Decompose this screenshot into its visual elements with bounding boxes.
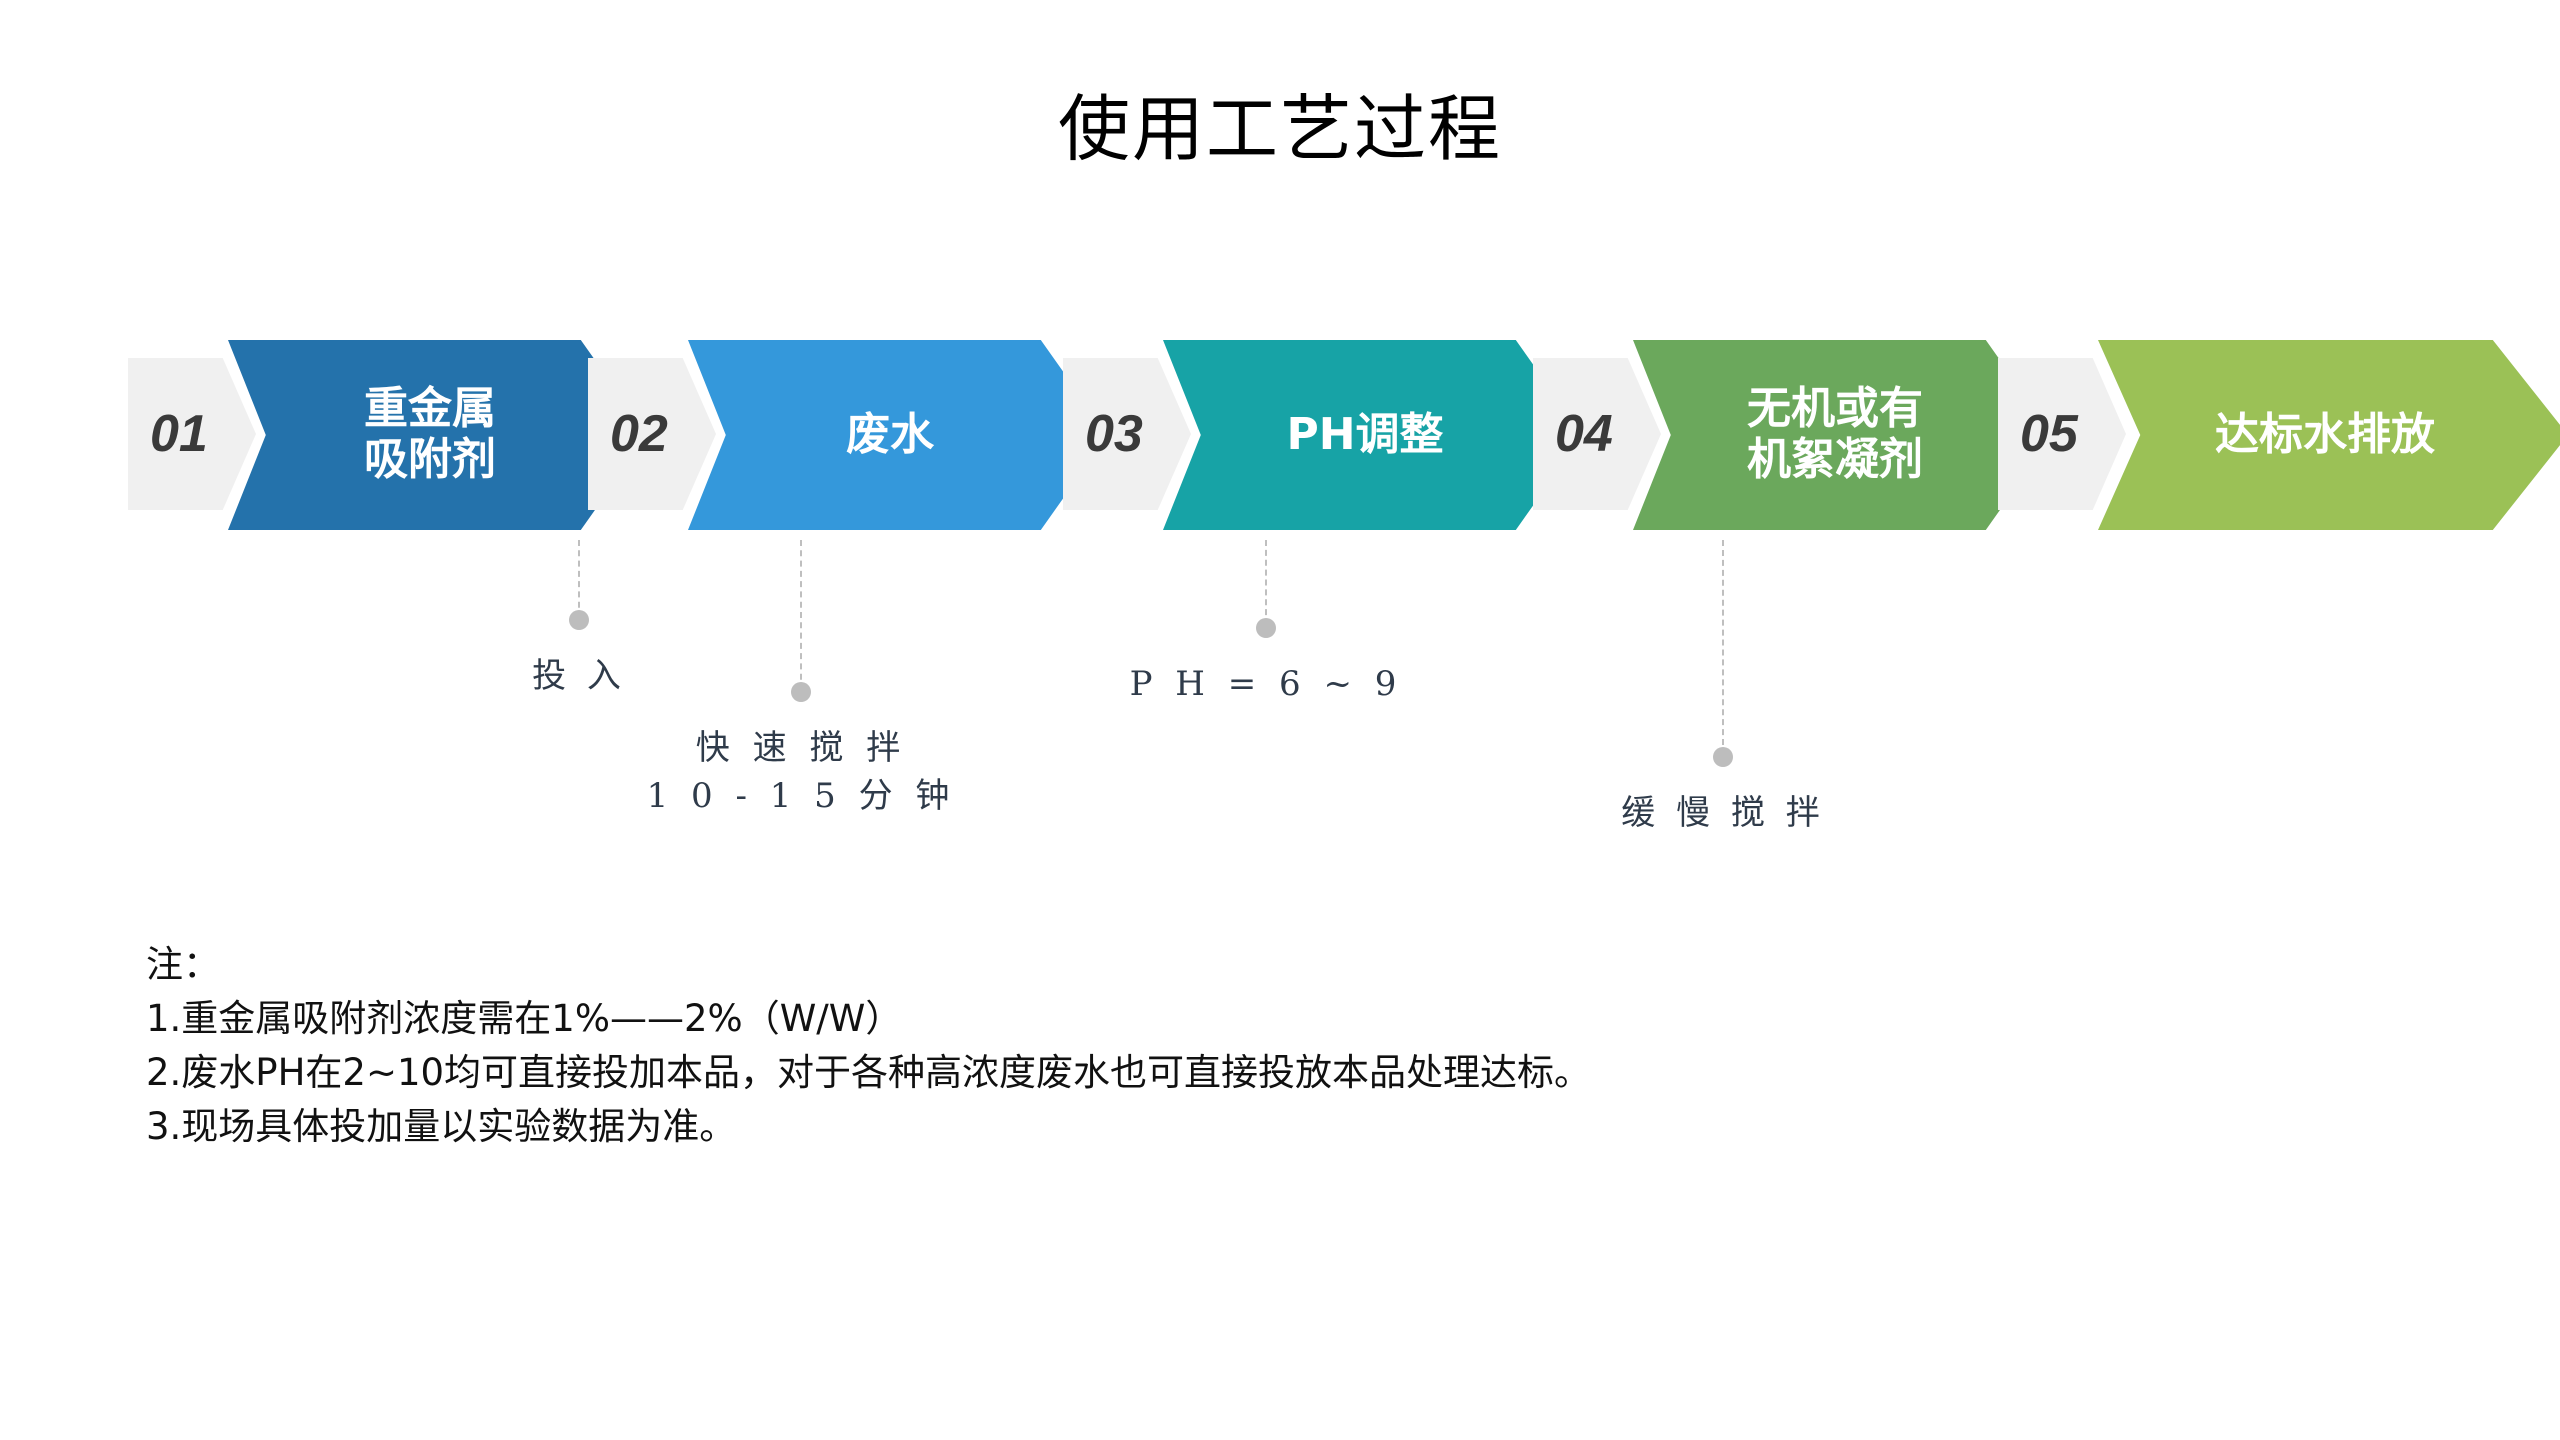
process-step-04[interactable]: 04 无机或有 机絮凝剂 <box>1533 330 1993 540</box>
step-badge-02: 02 <box>588 358 716 510</box>
callout-label-3: P H = 6 ~ 9 <box>1066 660 1466 708</box>
notes-heading: 注： <box>146 938 2246 992</box>
step-chevron-05[interactable]: 达标水排放 <box>2098 340 2560 530</box>
step-chevron-01[interactable]: 重金属 吸附剂 <box>228 340 648 530</box>
notes-block: 注： 1.重金属吸附剂浓度需在1%——2%（W/W） 2.废水PH在2~10均可… <box>146 938 2246 1154</box>
step-chevron-04[interactable]: 无机或有 机絮凝剂 <box>1633 340 2053 530</box>
step-number-03: 03 <box>1063 404 1143 464</box>
callout-leader-line-2 <box>800 540 802 690</box>
callout-label-2: 快 速 搅 拌 1 0 - 1 5 分 钟 <box>571 724 1031 821</box>
step-badge-03: 03 <box>1063 358 1191 510</box>
callout-leader-line-3 <box>1265 540 1267 625</box>
step-chevron-03[interactable]: PH调整 <box>1163 340 1583 530</box>
step-badge-01: 01 <box>128 358 256 510</box>
process-step-03[interactable]: 03 PH调整 <box>1063 330 1523 540</box>
note-item-2: 2.废水PH在2~10均可直接投加本品，对于各种高浓度废水也可直接投放本品处理达… <box>146 1046 2246 1100</box>
callout-leader-line-1 <box>578 540 580 618</box>
process-step-02[interactable]: 02 废水 <box>588 330 1048 540</box>
step-number-04: 04 <box>1533 404 1613 464</box>
slide-canvas: 使用工艺过程 01 重金属 吸附剂 02 废水 03 <box>0 0 2560 1440</box>
step-label-02: 废水 <box>846 410 934 461</box>
callout-label-1: 投 入 <box>419 652 739 700</box>
note-item-3: 3.现场具体投加量以实验数据为准。 <box>146 1100 2246 1154</box>
process-step-05[interactable]: 05 达标水排放 <box>1998 330 2518 540</box>
note-item-1: 1.重金属吸附剂浓度需在1%——2%（W/W） <box>146 992 2246 1046</box>
step-label-04: 无机或有 机絮凝剂 <box>1747 384 1923 485</box>
process-flow-row: 01 重金属 吸附剂 02 废水 03 PH调整 <box>0 330 2560 550</box>
step-number-01: 01 <box>128 404 208 464</box>
callout-leader-line-4 <box>1722 540 1724 755</box>
callout-dot-3 <box>1256 618 1276 638</box>
callout-label-4: 缓 慢 搅 拌 <box>1523 789 1923 837</box>
step-label-03: PH调整 <box>1286 410 1443 461</box>
step-badge-04: 04 <box>1533 358 1661 510</box>
process-step-01[interactable]: 01 重金属 吸附剂 <box>128 330 648 540</box>
page-title: 使用工艺过程 <box>0 90 2560 169</box>
callout-dot-4 <box>1713 747 1733 767</box>
step-label-05: 达标水排放 <box>2215 410 2435 461</box>
callout-dot-2 <box>791 682 811 702</box>
step-number-05: 05 <box>1998 404 2078 464</box>
step-number-02: 02 <box>588 404 668 464</box>
step-chevron-02[interactable]: 废水 <box>688 340 1108 530</box>
callout-dot-1 <box>569 610 589 630</box>
step-badge-05: 05 <box>1998 358 2126 510</box>
step-label-01: 重金属 吸附剂 <box>364 384 496 485</box>
